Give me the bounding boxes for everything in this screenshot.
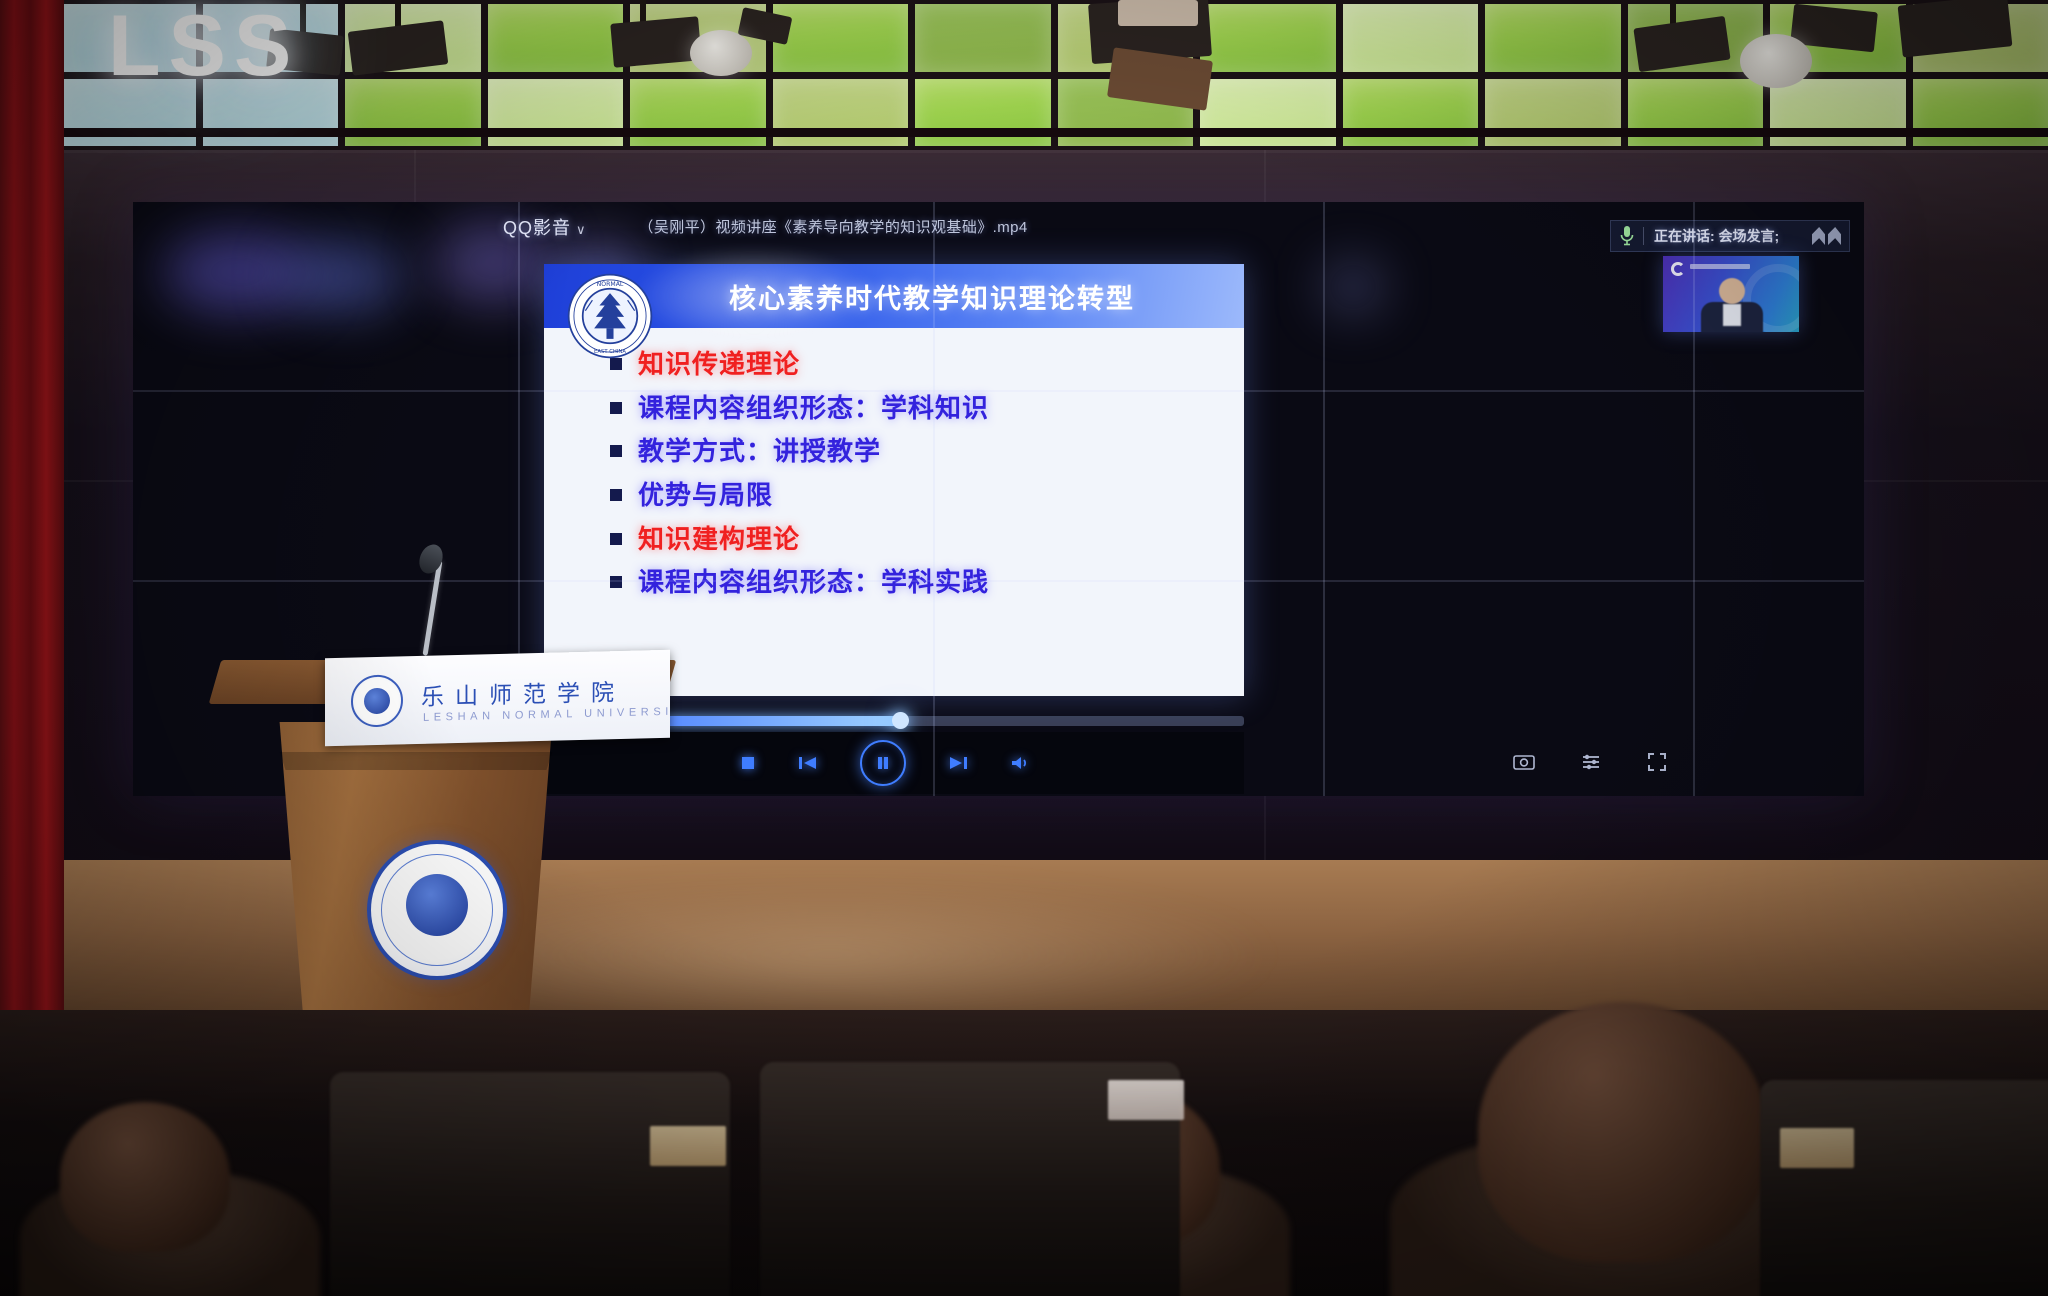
slide-bullet-text: 知识传递理论 [638,350,800,381]
slide-header: NORMAL EAST CHINA 核心素养时代教学知识理论转型 [544,264,1244,328]
bullet-square-icon [610,445,622,457]
audience-head [60,1102,230,1252]
conference-logo-text [1690,264,1750,269]
slide-bullet-text: 知识建构理论 [638,525,800,556]
svg-text:EAST CHINA: EAST CHINA [594,349,626,355]
audio-wave-icon [1812,227,1841,245]
auditorium-scene: LSS QQ影音∨ [0,0,2048,1296]
wall-panel [1343,4,1479,72]
wall-panel [915,4,1051,72]
bullet-square-icon [610,576,622,588]
seat-number-plate [650,1126,726,1166]
audience-area [0,1010,2048,1296]
presentation-slide: NORMAL EAST CHINA 核心素养时代教学知识理论转型 知识传递理论 … [544,264,1244,696]
previous-button[interactable] [798,755,818,771]
wall-panel [1485,4,1621,72]
conference-status-bar: 正在讲话: 会场发言; [1610,220,1850,252]
stage-light [610,16,702,68]
slide-bullet-text: 优势与局限 [638,481,773,512]
seat-number-plate [1108,1080,1184,1120]
slide-bullet-text: 课程内容组织形态：学科知识 [638,394,989,425]
conference-logo-icon [1671,262,1685,276]
slide-bullet-item: 课程内容组织形态：学科知识 [610,394,1244,425]
audience-head [1478,1002,1768,1262]
bullet-square-icon [610,489,622,501]
speaking-status-text: 正在讲话: 会场发言; [1654,226,1779,246]
wall-panel [1200,4,1336,72]
slide-bullet-text: 教学方式：讲授教学 [638,437,881,468]
university-seal-small-icon [351,674,403,727]
remote-speaker-thumbnail[interactable] [1663,256,1799,332]
speaker-head [1719,278,1745,304]
screenshot-button[interactable] [1513,753,1535,776]
podium-name-panel: 乐山师范学院 LESHAN NORMAL UNIVERSITY [325,650,670,746]
stage-light [1118,0,1198,26]
bullet-square-icon [610,533,622,545]
progress-handle[interactable] [892,712,909,729]
ecnu-logo-icon: NORMAL EAST CHINA [566,272,654,360]
player-utility-controls [1513,740,1813,788]
volume-button[interactable] [1010,755,1032,771]
venue-wall-sign: LSS [108,6,299,88]
university-name-cn: 乐山师范学院 [421,673,625,712]
university-seal-large-icon [367,840,507,980]
wall-panel [488,4,624,72]
slide-bullet-item: 教学方式：讲授教学 [610,437,1244,468]
player-controls [528,732,1244,794]
seat-back [1760,1080,2048,1296]
fullscreen-button[interactable] [1647,752,1667,777]
next-button[interactable] [948,755,968,771]
podium-band [271,752,561,770]
slide-bullet-item: 优势与局限 [610,481,1244,512]
slide-bullet-text: 课程内容组织形态：学科实践 [638,568,989,599]
pause-button[interactable] [860,740,906,786]
slide-bullet-list: 知识传递理论 课程内容组织形态：学科知识 教学方式：讲授教学 优势与局限 知识建… [544,328,1244,599]
svg-text:NORMAL: NORMAL [597,281,624,288]
seat-back [330,1072,730,1296]
stage-curtain [0,0,64,1040]
speaker-shirt [1723,304,1741,326]
stage-light-lens [690,30,752,76]
stop-button[interactable] [740,755,756,771]
bullet-square-icon [610,402,622,414]
stage-light-lens [1740,34,1812,88]
slide-bullet-item: 知识建构理论 [610,525,1244,556]
microphone-icon [1619,225,1635,247]
slide-bullet-item: 知识传递理论 [610,350,1244,381]
equalizer-button[interactable] [1581,753,1601,776]
slide-bullet-item: 课程内容组织形态：学科实践 [610,568,1244,599]
seat-number-plate [1780,1128,1854,1168]
wall-panel [773,4,909,72]
